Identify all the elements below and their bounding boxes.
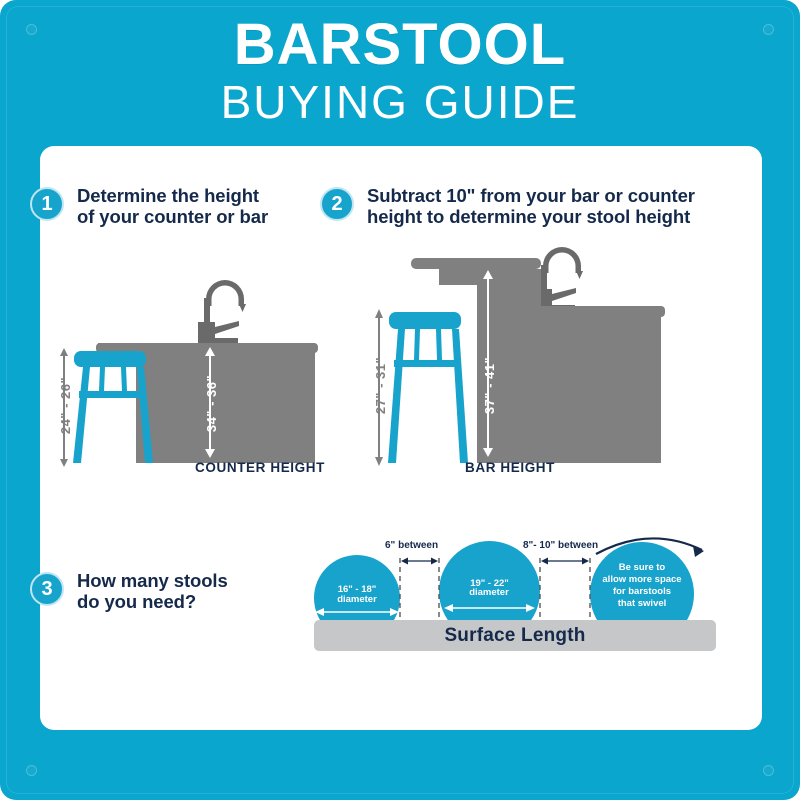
counter-height-caption: COUNTER HEIGHT [160, 460, 360, 475]
swivel-arrow-icon [596, 538, 702, 554]
step-2-label: Subtract 10" from your bar or counter he… [367, 185, 695, 227]
bar-height-caption: BAR HEIGHT [410, 460, 610, 475]
page-subtitle: BUYING GUIDE [0, 76, 800, 128]
counter-stool-height-label: 24" - 26" [58, 377, 73, 434]
large-diameter-arrow [444, 604, 535, 612]
step-3-heading: 3 How many stools do you need? [30, 570, 228, 612]
stool-spacing-diagram: 16" - 18" 19" - 22" Be sure to allow mor… [300, 528, 730, 658]
small-diameter-arrow [315, 608, 399, 616]
bar-height-diagram: 27" - 31" 37" - 41" BAR HEIGHT [375, 248, 705, 478]
step-3-badge: 3 [30, 572, 64, 606]
step-1-label: Determine the height of your counter or … [77, 185, 268, 227]
gap-2-label: 8"- 10" between [523, 540, 598, 551]
counter-height-diagram: 24" - 26" 34" - 36" COUNTER HEIGHT [60, 248, 370, 478]
barstool-icon [388, 312, 468, 463]
step-2-heading: 2 Subtract 10" from your bar or counter … [320, 185, 695, 227]
counter-surface-height-label: 34" - 36" [204, 375, 219, 432]
gap-1-arrow [401, 558, 438, 565]
faucet-icon [198, 280, 246, 344]
rivet-bottom-left-icon [26, 765, 37, 776]
header: BARSTOOL BUYING GUIDE [0, 14, 800, 128]
step-1-badge: 1 [30, 187, 64, 221]
step-1-heading: 1 Determine the height of your counter o… [30, 185, 268, 227]
rivet-bottom-right-icon [763, 765, 774, 776]
infographic-plate: BARSTOOL BUYING GUIDE 1 Determine the he… [0, 0, 800, 800]
bar-diagram-graphic [375, 248, 705, 463]
step-3-label: How many stools do you need? [77, 570, 228, 612]
surface-length-bar: Surface Length [314, 620, 716, 651]
step-2-badge: 2 [320, 187, 354, 221]
gap-1-label: 6" between [385, 540, 438, 551]
faucet-icon [535, 247, 583, 311]
gap-1-guides [400, 558, 439, 620]
gap-2-arrow [541, 558, 589, 565]
bar-stool-height-label: 27" - 31" [373, 357, 388, 414]
page-title: BARSTOOL [0, 14, 800, 76]
gap-2-guides [540, 558, 590, 620]
bar-surface-height-label: 37" - 41" [482, 357, 497, 414]
